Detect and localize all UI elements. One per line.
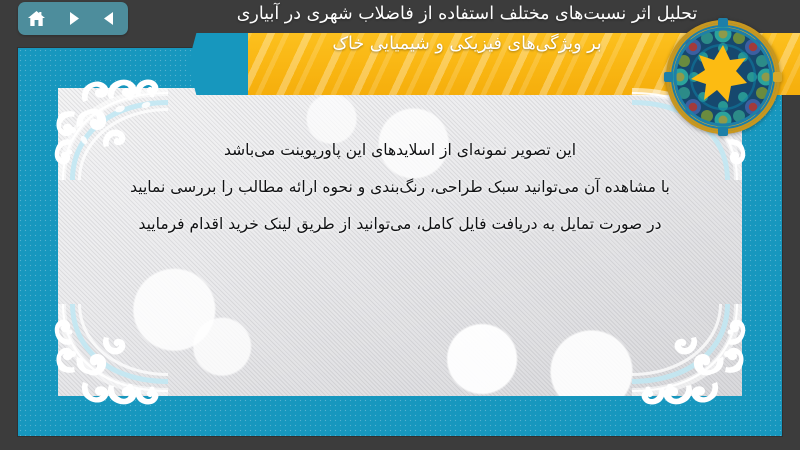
body-line: در صورت تمایل به دریافت فایل کامل، می‌تو… — [60, 206, 740, 243]
persian-medallion-icon — [664, 18, 782, 136]
body-line: این تصویر نمونه‌ای از اسلایدهای این پاور… — [60, 132, 740, 169]
slide-stage: تحلیل اثر نسبت‌های مختلف استفاده از فاضل… — [0, 0, 800, 450]
navigation-bar — [18, 2, 128, 35]
title-tab-arrow — [188, 33, 248, 95]
home-icon[interactable] — [22, 6, 50, 32]
body-line: با مشاهده آن می‌توانید سبک طراحی، رنگ‌بن… — [60, 169, 740, 206]
slide-body-text: این تصویر نمونه‌ای از اسلایدهای این پاور… — [60, 132, 740, 243]
back-icon[interactable] — [96, 6, 124, 32]
forward-icon[interactable] — [59, 6, 87, 32]
